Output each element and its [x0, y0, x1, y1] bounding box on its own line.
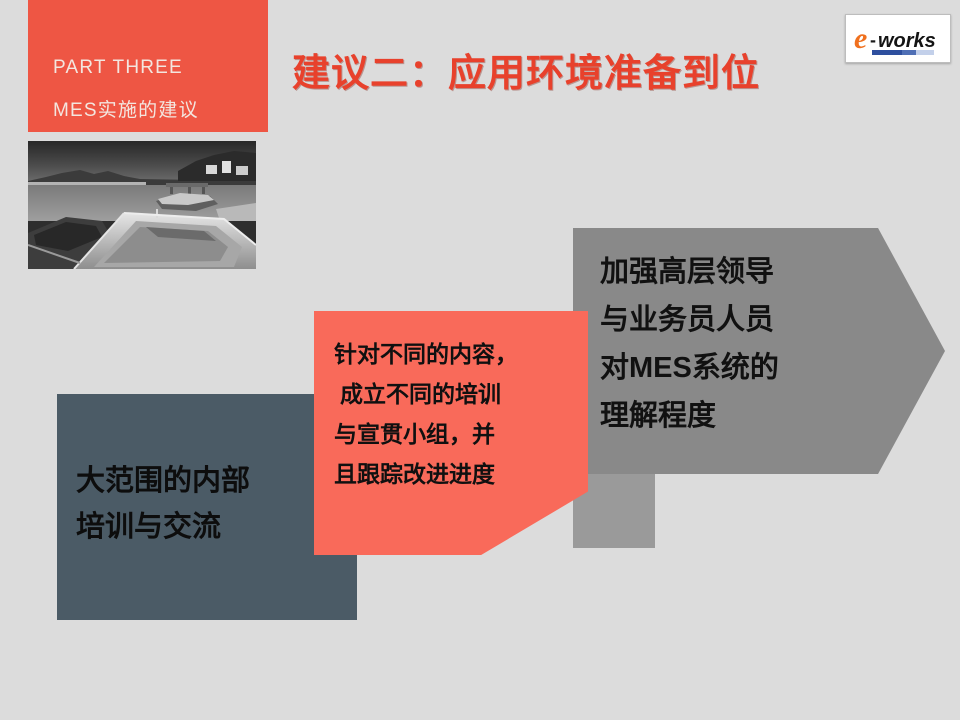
slide-canvas: PART THREE MES实施的建议: [0, 0, 960, 720]
blue-text-line1: 大范围的内部: [76, 467, 250, 496]
blue-box-shape[interactable]: 大范围的内部 培训与交流: [57, 394, 357, 620]
svg-text:-: -: [870, 30, 876, 50]
slide-title: 建议二：应用环境准备到位: [292, 42, 760, 97]
coral-pentagon-shape[interactable]: 针对不同的内容， 成立不同的培训 与宣贯小组，并 且跟踪改进进度: [314, 311, 588, 555]
gray-text-line4: 理解程度: [600, 402, 716, 431]
svg-text:e: e: [854, 22, 867, 55]
gray-chevron-shape[interactable]: 加强高层领导 与业务员人员 对MES系统的 理解程度: [573, 228, 945, 474]
coral-text-line2: 成立不同的培训: [340, 383, 501, 406]
part-three-block: PART THREE MES实施的建议: [28, 0, 268, 132]
coral-text-line4: 且跟踪改进进度: [334, 463, 495, 486]
gray-text-line3: 对MES系统的: [600, 354, 779, 383]
gray-text-line1: 加强高层领导: [600, 258, 774, 287]
coral-text-line1: 针对不同的内容，: [334, 343, 518, 366]
gray-text-line2: 与业务员人员: [600, 306, 774, 335]
eworks-logo-graphic: e - works: [846, 15, 950, 62]
boats-photo: [28, 141, 256, 269]
coral-text-line3: 与宣贯小组，并: [334, 423, 495, 446]
boats-photo-graphic: [28, 141, 256, 269]
part-label-line1: PART THREE: [53, 57, 183, 79]
svg-text:works: works: [878, 30, 936, 52]
blue-text-line2: 培训与交流: [76, 513, 221, 542]
eworks-logo: e - works: [845, 14, 951, 63]
part-label-line2: MES实施的建议: [53, 95, 199, 122]
